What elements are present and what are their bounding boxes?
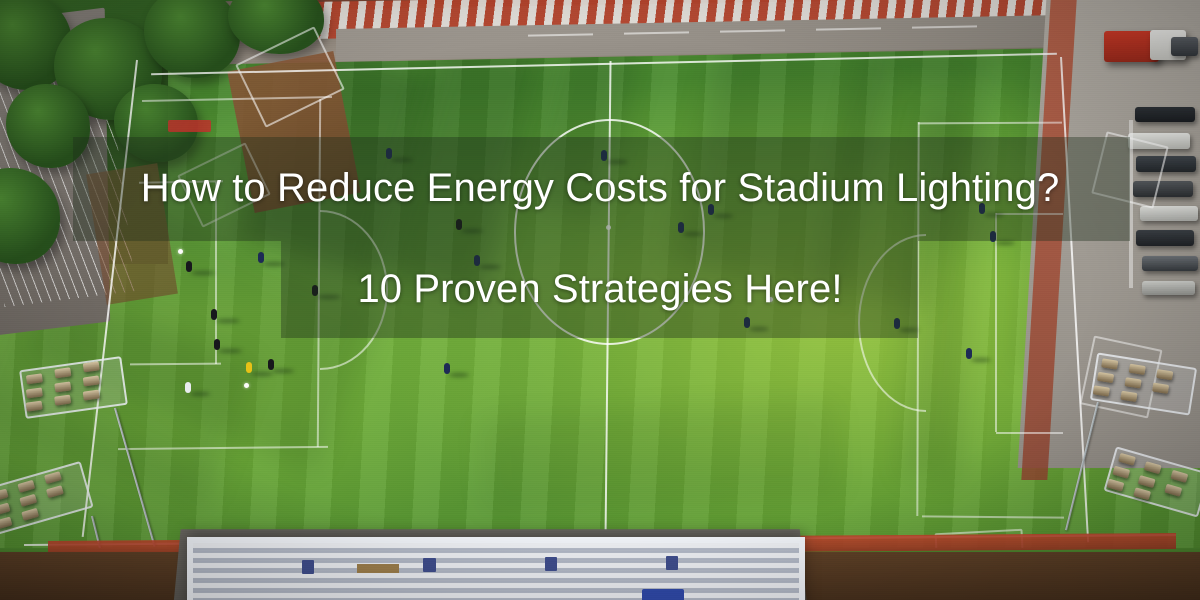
player	[268, 359, 274, 370]
car	[1136, 230, 1194, 246]
car	[1171, 37, 1197, 56]
player	[185, 382, 191, 393]
player	[966, 348, 972, 359]
banner-subline: 10 Proven Strategies Here!	[0, 266, 1200, 312]
seating-rows	[193, 543, 799, 600]
car	[1135, 107, 1195, 123]
right-goal-area-bottom	[996, 432, 1063, 434]
stadium-lighting-banner: How to Reduce Energy Costs for Stadium L…	[0, 0, 1200, 600]
grandstand-building	[187, 537, 805, 600]
player	[214, 339, 220, 350]
player	[246, 362, 252, 373]
right-goal-area-end	[995, 213, 997, 432]
player	[258, 252, 264, 263]
football	[244, 383, 249, 388]
player	[444, 363, 450, 374]
banner-headline: How to Reduce Energy Costs for Stadium L…	[0, 165, 1200, 211]
person-on-stand	[642, 589, 684, 600]
football	[178, 249, 183, 254]
